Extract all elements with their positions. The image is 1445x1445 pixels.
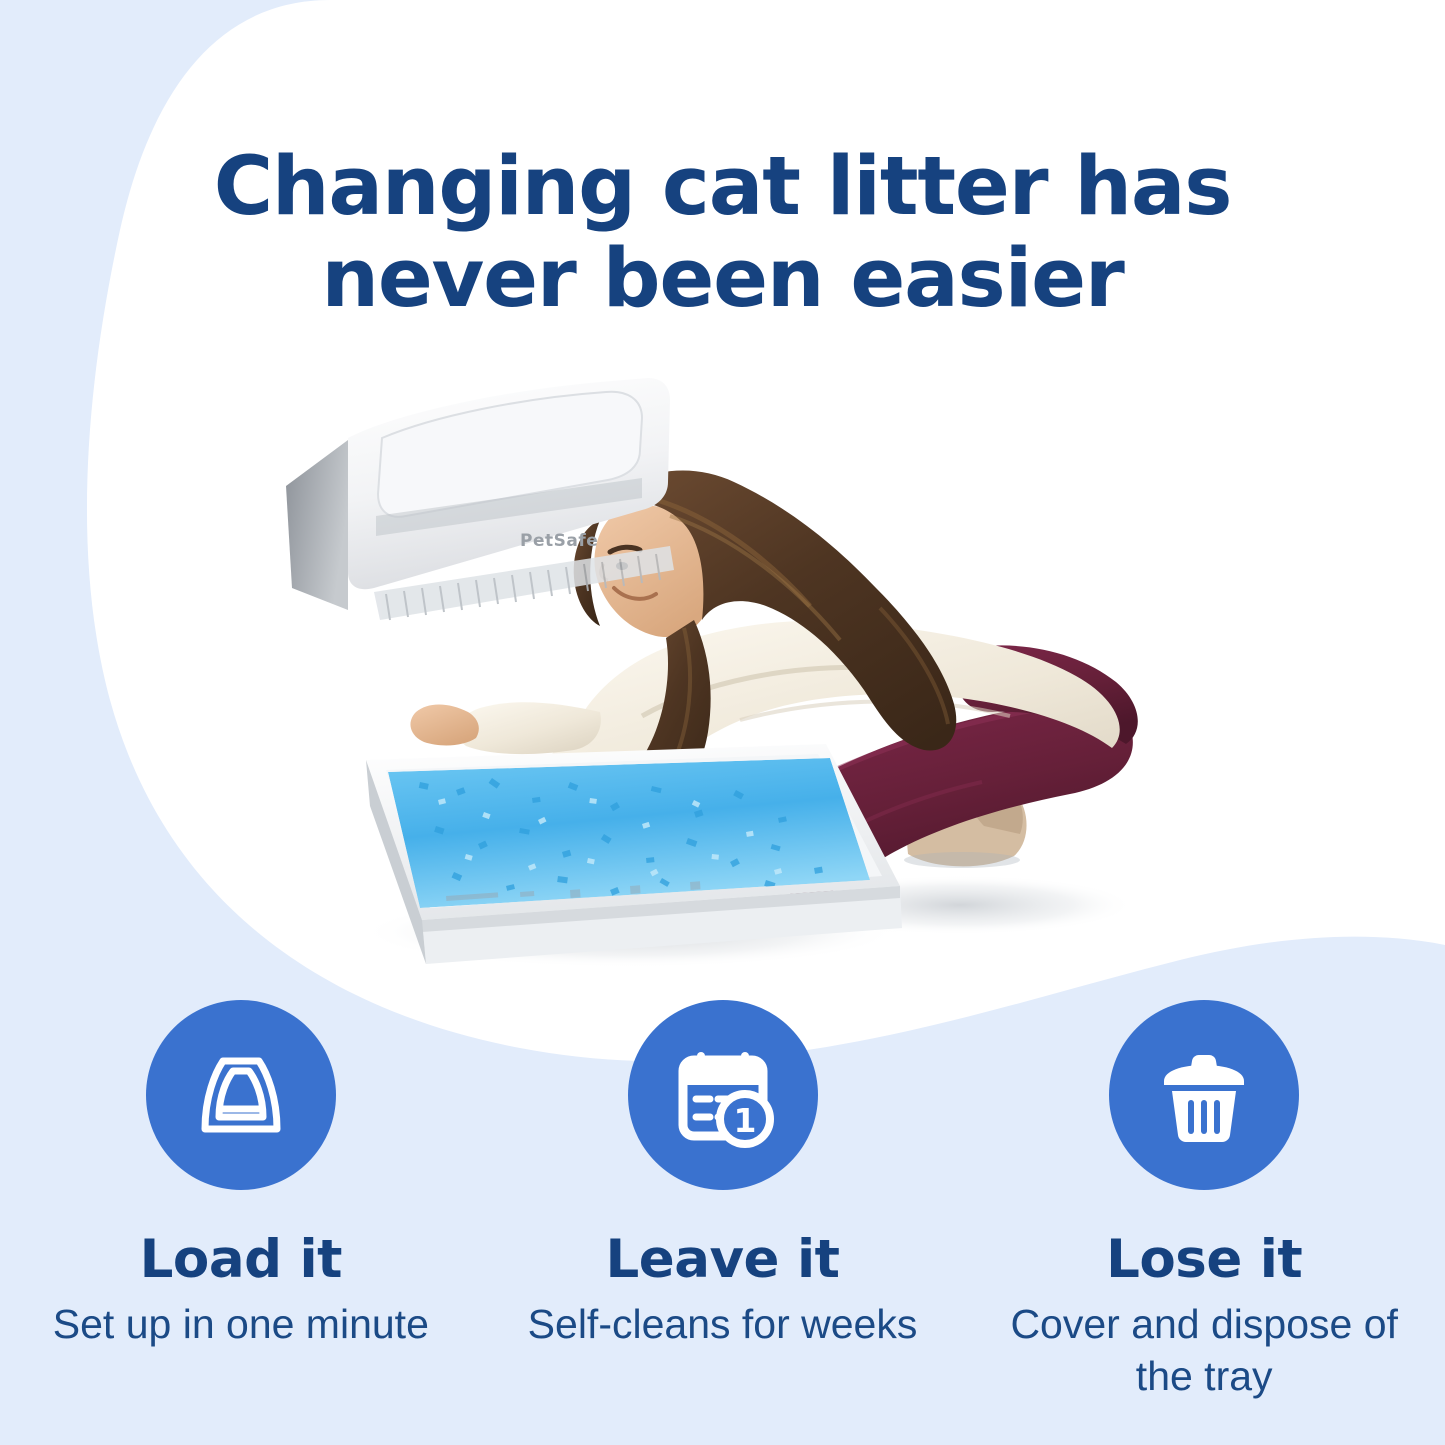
- calendar-one-icon: 1: [628, 1000, 818, 1190]
- feature-title: Leave it: [606, 1232, 840, 1288]
- litter-tray-icon: [146, 1000, 336, 1190]
- feature-leave-it: 1 Leave it Self-cleans for weeks: [482, 1000, 964, 1430]
- trash-can-icon: [1109, 1000, 1299, 1190]
- infographic-canvas: Changing cat litter has never been easie…: [0, 0, 1445, 1445]
- feature-load-it: Load it Set up in one minute: [0, 1000, 482, 1430]
- calendar-badge-number: 1: [733, 1101, 756, 1140]
- feature-subtitle: Set up in one minute: [53, 1298, 429, 1350]
- feature-subtitle: Cover and dispose of the tray: [1004, 1298, 1404, 1403]
- feature-title: Lose it: [1106, 1232, 1302, 1288]
- product-brand-label: PetSafe: [520, 531, 598, 551]
- headline-line-2: never been easier: [0, 234, 1445, 326]
- feature-lose-it: Lose it Cover and dispose of the tray: [963, 1000, 1445, 1430]
- feature-row: Load it Set up in one minute: [0, 1000, 1445, 1430]
- feature-subtitle: Self-cleans for weeks: [528, 1298, 918, 1350]
- page-title: Changing cat litter has never been easie…: [0, 142, 1445, 325]
- feature-title: Load it: [140, 1232, 342, 1288]
- headline-line-1: Changing cat litter has: [0, 142, 1445, 234]
- hero-product-photo: PetSafe: [270, 320, 1140, 980]
